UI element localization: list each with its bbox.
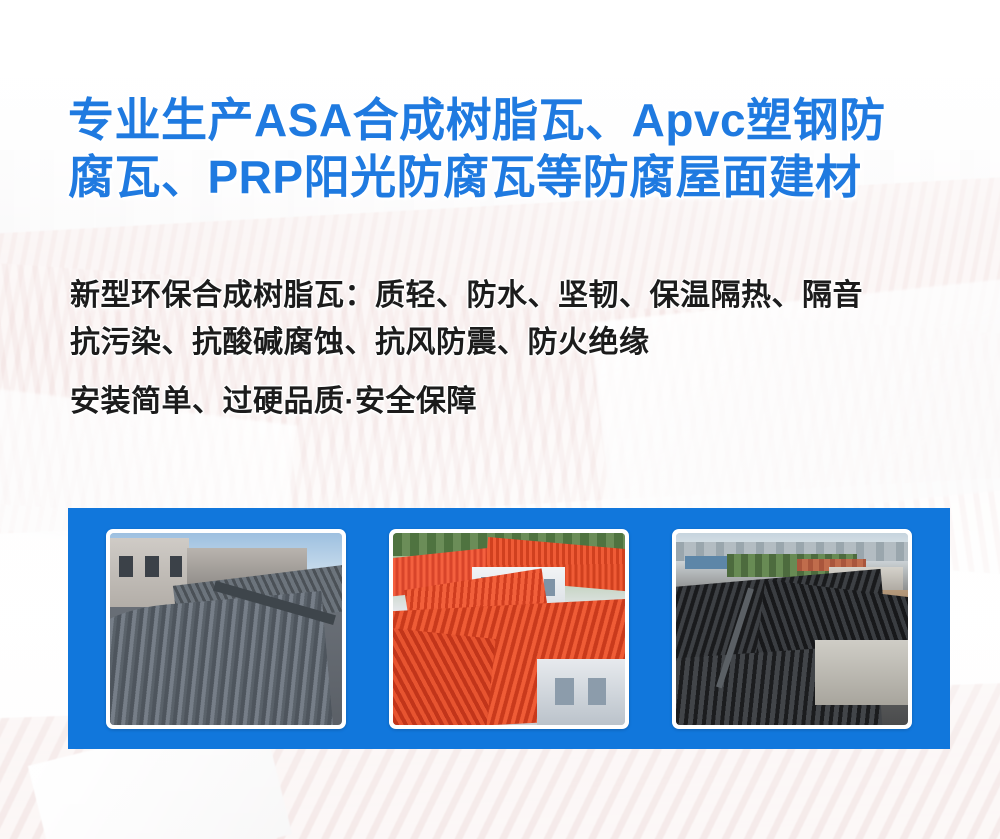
photo-grey-resin-tile-roof (110, 533, 342, 725)
photo-frame-1[interactable] (106, 529, 346, 729)
subheadline-line-2: 抗污染、抗酸碱腐蚀、抗风防震、防火绝缘 (70, 319, 970, 366)
window (170, 556, 182, 577)
photo-black-resin-tile-roof (676, 533, 908, 725)
red-roof-hip-left (393, 626, 495, 725)
subheadline-line-1: 新型环保合成树脂瓦：质轻、防水、坚韧、保温隔热、隔音 (70, 272, 970, 319)
courtyard (815, 640, 908, 705)
headline-line-1: 专业生产ASA合成树脂瓦、Apvc塑钢防 (68, 94, 886, 146)
photo-frame-3[interactable] (672, 529, 912, 729)
subheadline: 新型环保合成树脂瓦：质轻、防水、坚韧、保温隔热、隔音 抗污染、抗酸碱腐蚀、抗风防… (70, 272, 970, 425)
window (119, 556, 133, 577)
headline: 专业生产ASA合成树脂瓦、Apvc塑钢防 腐瓦、PRP阳光防腐瓦等防腐屋面建材 (68, 92, 948, 206)
building-lower-right (537, 659, 625, 724)
window (555, 678, 574, 705)
photo-red-resin-tile-roof (393, 533, 625, 725)
window (145, 556, 159, 577)
window (588, 678, 607, 705)
headline-line-2: 腐瓦、PRP阳光防腐瓦等防腐屋面建材 (68, 149, 948, 206)
photo-frame-2[interactable] (389, 529, 629, 729)
product-photo-gallery (68, 508, 950, 749)
subheadline-line-3: 安装简单、过硬品质·安全保障 (70, 378, 970, 425)
